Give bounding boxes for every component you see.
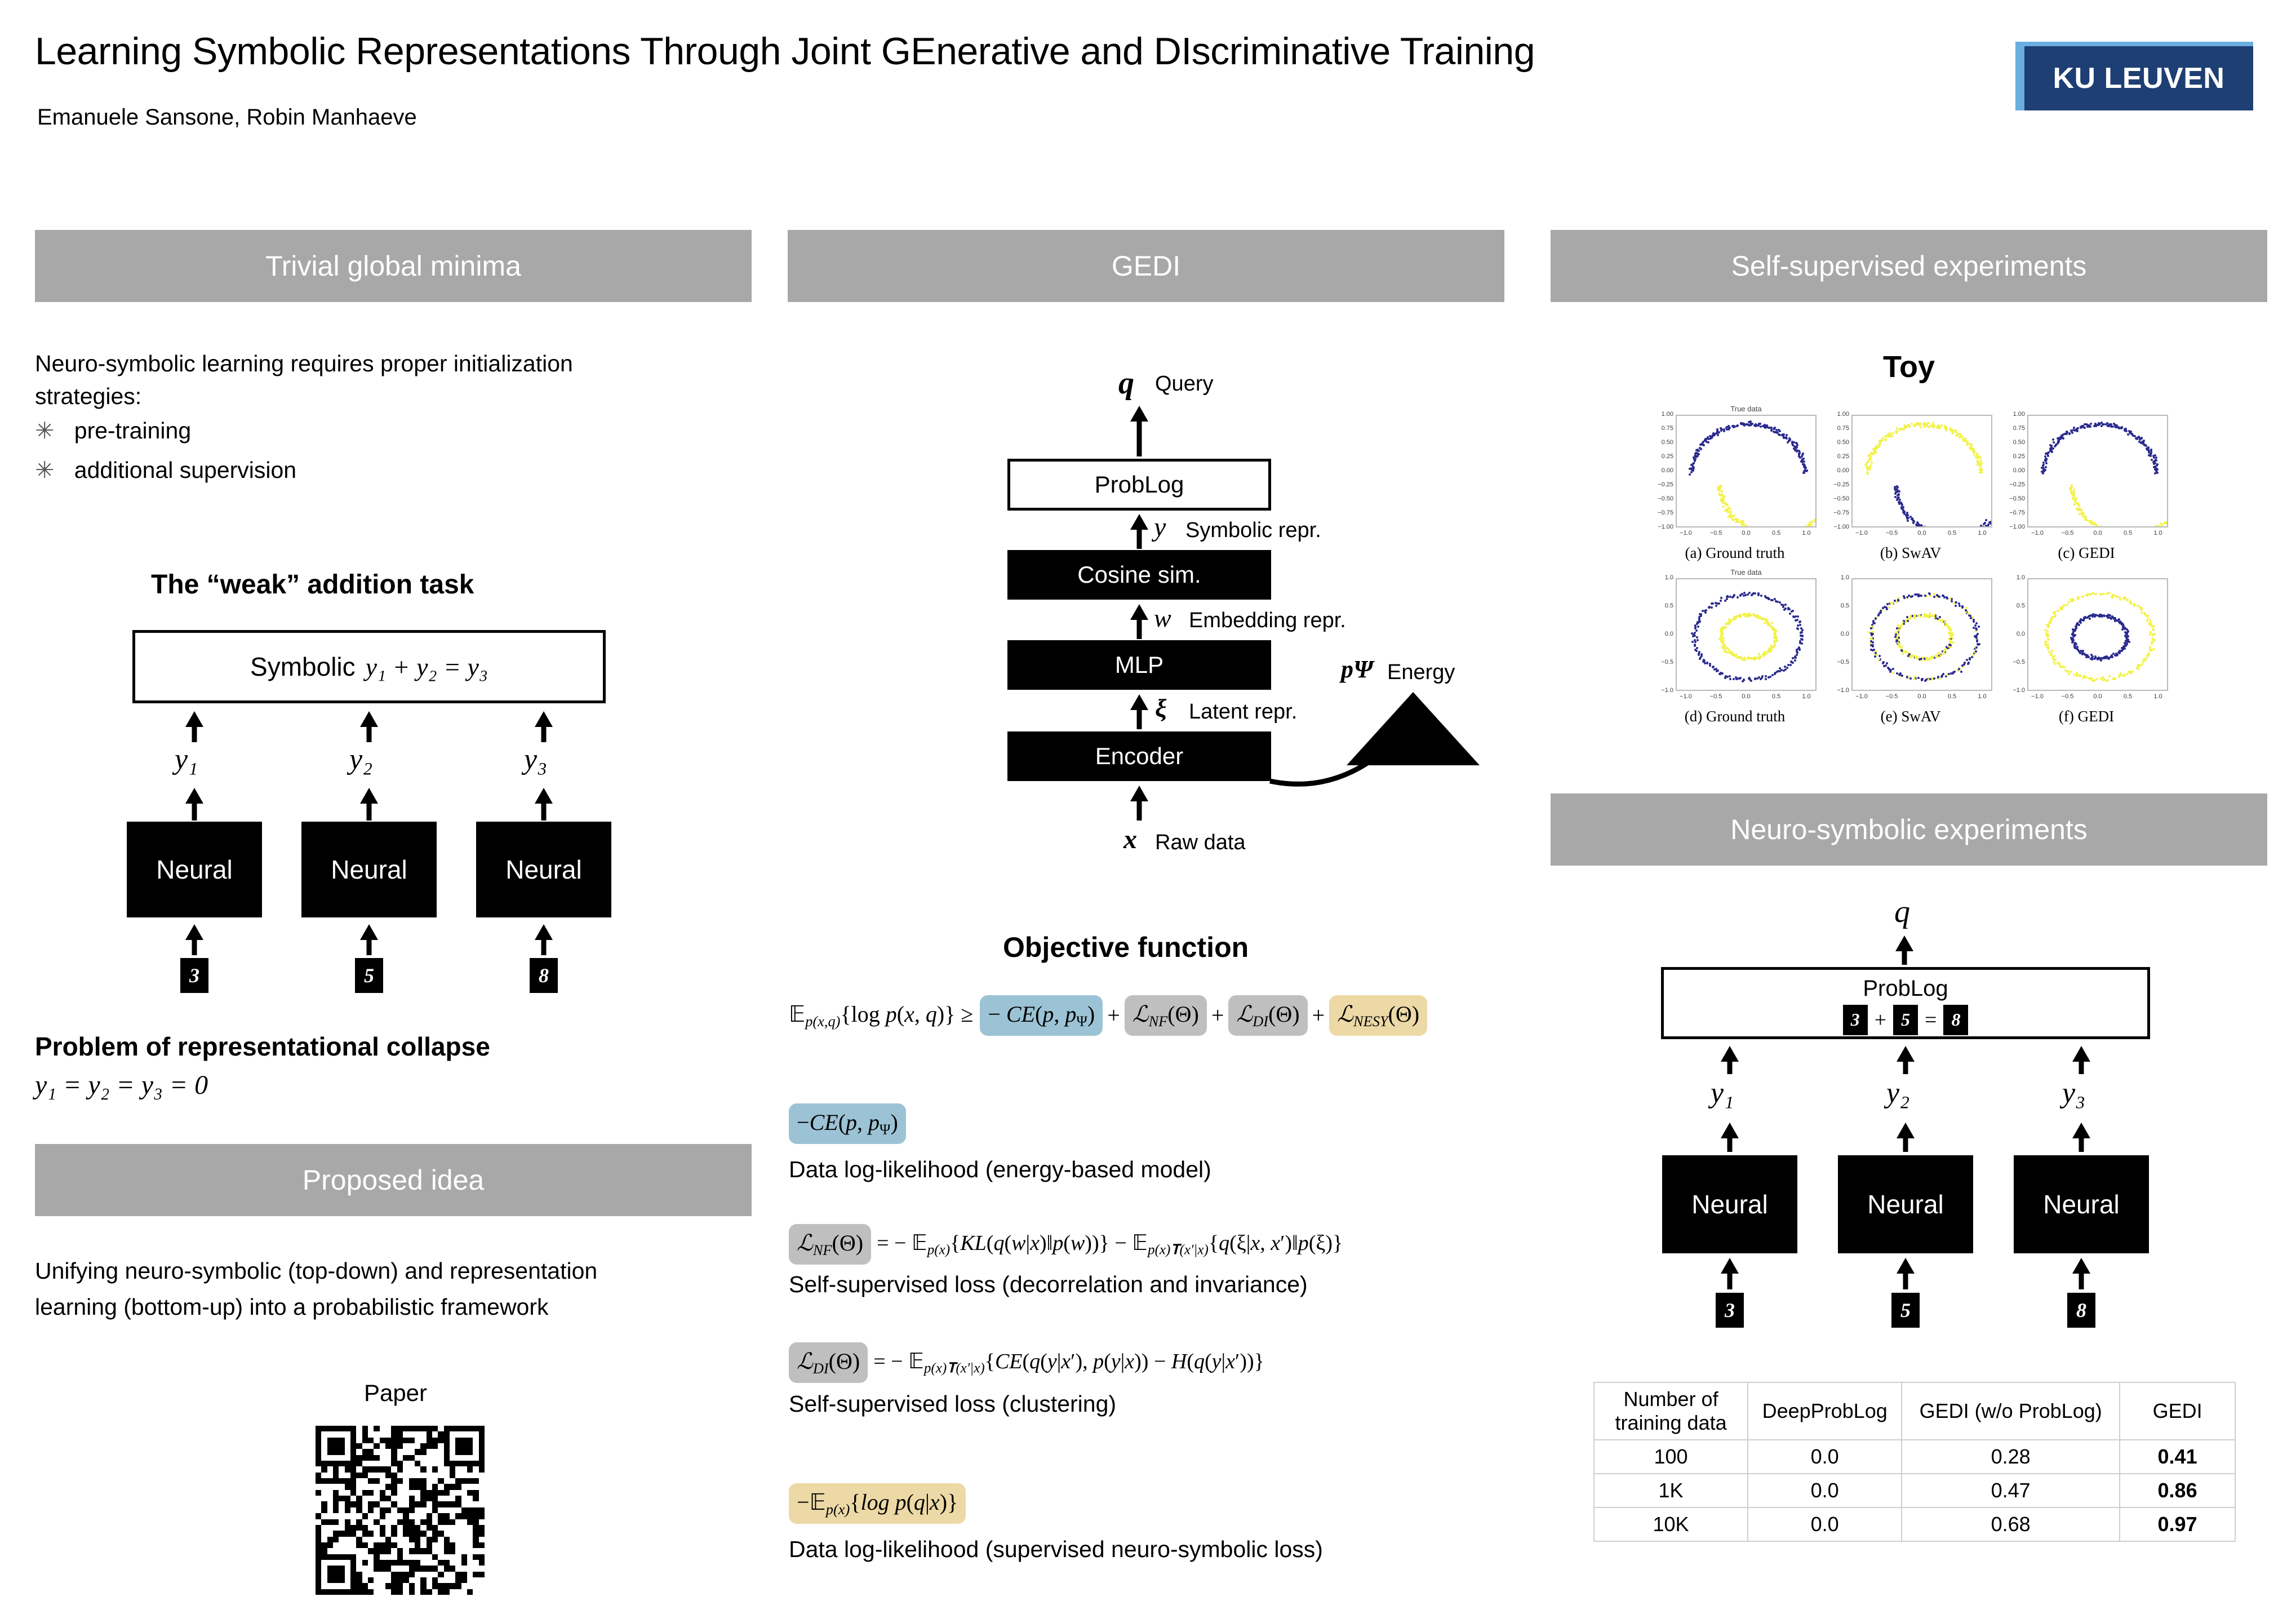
- y-tick-label: −1.0: [1829, 687, 1849, 694]
- objective-term-ce: − CE(p, pΨ): [980, 995, 1103, 1036]
- y-tick-label: 0.25: [1653, 453, 1673, 460]
- mnist-digit-3: 3: [180, 958, 208, 993]
- asterisk-icon: ✳: [35, 418, 54, 444]
- mnist-digit-3: 3: [1716, 1293, 1744, 1328]
- encoder-block: Encoder: [1007, 731, 1271, 781]
- bullet-label-0: pre-training: [74, 418, 191, 444]
- table-cell-gedi: 0.86: [2120, 1474, 2235, 1507]
- y-tick-label: 1.00: [1653, 411, 1673, 418]
- toy-plot-2: 1.000.750.500.250.00−0.25−0.50−0.75−1.00…: [2005, 406, 2168, 564]
- problog-label: ProbLog: [1095, 471, 1184, 498]
- cosine-sim-label: Cosine sim.: [1077, 561, 1201, 588]
- y-tick-label: −0.50: [2005, 495, 2025, 502]
- logo-text: KU LEUVEN: [2053, 61, 2225, 95]
- objective-term-di: ℒDI(Θ): [1228, 995, 1307, 1036]
- neural-block-2: Neural: [301, 822, 437, 917]
- y3-label: y₃: [524, 743, 547, 776]
- x-tick-label: −0.5: [2058, 530, 2078, 536]
- loss-equation-di: = − 𝔼p(x)𝐓(x′|x){CE(q(y|x′), p(y|x)) − H…: [873, 1349, 1264, 1377]
- asterisk-icon: ✳: [35, 457, 54, 483]
- objective-equation: 𝔼p(x,q){log p(x, q)} ≥ − CE(p, pΨ) + ℒNF…: [789, 995, 1427, 1036]
- table-cell-deepproblog: 0.0: [1748, 1440, 1902, 1474]
- plot-caption: (b) SwAV: [1829, 544, 1992, 562]
- table-cell-ntrain: 10K: [1594, 1507, 1748, 1541]
- table-cell-gedi: 0.41: [2120, 1440, 2235, 1474]
- mlp-block: MLP: [1007, 640, 1271, 690]
- mnist-digit-5: 5: [1893, 1005, 1918, 1035]
- y-tick-label: −1.00: [2005, 524, 2025, 530]
- y-tick-label: 0.00: [1653, 467, 1673, 474]
- y-tick-label: −0.25: [1653, 481, 1673, 488]
- mnist-digit-5: 5: [1891, 1293, 1920, 1328]
- y-tick-label: −0.50: [1653, 495, 1673, 502]
- objective-term-nesy: ℒNESY(Θ): [1329, 995, 1427, 1036]
- y-tick-label: −0.25: [1829, 481, 1849, 488]
- x-tick-label: −1.0: [2027, 530, 2048, 536]
- y-tick-label: −0.5: [2005, 659, 2025, 666]
- y-tick-label: −0.75: [2005, 509, 2025, 516]
- loss-block-ce: −CE(p, pΨ): [789, 1103, 906, 1144]
- xi-symbol: ξ: [1155, 693, 1167, 723]
- symbolic-label: Symbolic: [250, 651, 356, 682]
- loss-badge-nf: ℒNF(Θ): [789, 1224, 871, 1265]
- table-cell-ntrain: 100: [1594, 1440, 1748, 1474]
- bullet-label-1: additional supervision: [74, 457, 296, 483]
- x-tick-label: −1.0: [2027, 693, 2048, 700]
- symbolic-equation: y₁ + y₂ = y₃: [366, 652, 488, 682]
- loss-equation-nf: = − 𝔼p(x){KL(q(w|x)‖p(w))} − 𝔼p(x)𝐓(x′|x…: [877, 1230, 1343, 1259]
- plot-caption: (f) GEDI: [2005, 708, 2168, 725]
- section-header-neurosym: Neuro-symbolic experiments: [1551, 793, 2267, 866]
- table-header-ntrain-line2: training data: [1615, 1411, 1726, 1434]
- page-title: Learning Symbolic Representations Throug…: [35, 29, 1535, 73]
- y-tick-label: −0.25: [2005, 481, 2025, 488]
- embedding-repr-label: Embedding repr.: [1189, 609, 1346, 633]
- neural-block-1: Neural: [127, 822, 262, 917]
- x-tick-label: −0.5: [2058, 693, 2078, 700]
- section-header-gedi-label: GEDI: [1112, 250, 1180, 282]
- mnist-digit-3: 3: [1843, 1005, 1868, 1035]
- proposed-line-2: learning (bottom-up) into a probabilisti…: [35, 1291, 549, 1323]
- symbolic-repr-label: Symbolic repr.: [1185, 518, 1321, 543]
- loss-block-di: ℒDI(Θ) = − 𝔼p(x)𝐓(x′|x){CE(q(y|x′), p(y|…: [789, 1342, 1264, 1383]
- loss-badge-nesy: −𝔼p(x){log p(q|x)}: [789, 1483, 966, 1524]
- section-header-gedi: GEDI: [788, 230, 1504, 302]
- loss-caption-nf: Self-supervised loss (decorrelation and …: [789, 1268, 1308, 1301]
- collapse-title: Problem of representational collapse: [35, 1031, 490, 1062]
- toy-plot-0: True data1.000.750.500.250.00−0.25−0.50−…: [1653, 406, 1817, 564]
- y-tick-label: 1.0: [2005, 574, 2025, 581]
- results-table: Number of training data DeepProbLog GEDI…: [1593, 1382, 2236, 1542]
- loss-badge-ce: −CE(p, pΨ): [789, 1103, 906, 1144]
- plot-caption: (d) Ground truth: [1653, 708, 1817, 725]
- x-tick-label: 1.0: [1972, 530, 1992, 536]
- y-tick-label: 1.0: [1829, 574, 1849, 581]
- ku-leuven-logo: KU LEUVEN: [2015, 42, 2253, 110]
- objective-function-title: Objective function: [1003, 931, 1249, 964]
- plus-sign-1: +: [1107, 1002, 1120, 1028]
- authors: Emanuele Sansone, Robin Manhaeve: [37, 105, 417, 130]
- toy-plot-5: 1.00.50.0−0.5−1.0−1.0−0.50.00.51.0(f) GE…: [2005, 569, 2168, 727]
- y-tick-label: 0.0: [1653, 631, 1673, 637]
- poster-root: Learning Symbolic Representations Throug…: [0, 0, 2296, 1623]
- encoder-label: Encoder: [1095, 743, 1183, 770]
- table-header-deepproblog: DeepProbLog: [1748, 1382, 1902, 1440]
- plot-axes: [1851, 415, 1992, 527]
- encoder-to-energy-arrow-icon: [1268, 733, 1414, 795]
- nesy-query-symbol: q: [1894, 894, 1910, 930]
- problog-block: ProbLog: [1007, 459, 1271, 511]
- bullet-item-1: ✳ additional supervision: [35, 456, 296, 484]
- x-tick-label: 0.0: [2088, 530, 2108, 536]
- weak-addition-task-title: The “weak” addition task: [151, 569, 474, 600]
- y-tick-label: −0.75: [1829, 509, 1849, 516]
- intro-line-1: Neuro-symbolic learning requires proper …: [35, 347, 756, 380]
- y-tick-label: −1.0: [2005, 687, 2025, 694]
- y-tick-label: 0.00: [2005, 467, 2025, 474]
- y-tick-label: 0.0: [1829, 631, 1849, 637]
- cosine-sim-block: Cosine sim.: [1007, 550, 1271, 600]
- y-tick-label: 0.5: [2005, 602, 2025, 609]
- plot-caption: (e) SwAV: [1829, 708, 1992, 725]
- loss-block-nesy: −𝔼p(x){log p(q|x)}: [789, 1483, 966, 1524]
- nesy-y1-label: y₁: [1711, 1076, 1734, 1110]
- plus-sign: +: [1875, 1008, 1886, 1032]
- plot-title: True data: [1676, 568, 1817, 577]
- energy-symbol: pΨ: [1341, 655, 1373, 684]
- table-row: 1K0.00.470.86: [1594, 1474, 2235, 1507]
- y-tick-label: 1.00: [2005, 411, 2025, 418]
- neural-block-label: Neural: [1867, 1189, 1944, 1220]
- table-cell-deepproblog: 0.0: [1748, 1474, 1902, 1507]
- y-tick-label: −0.5: [1653, 659, 1673, 666]
- plot-axes: [2027, 578, 2168, 691]
- objective-lhs: 𝔼p(x,q){log p(x, q)} ≥: [789, 1001, 973, 1030]
- y-tick-label: 1.00: [1829, 411, 1849, 418]
- paper-qr-code[interactable]: [316, 1426, 485, 1595]
- y-tick-label: 0.5: [1829, 602, 1849, 609]
- table-row: 1000.00.280.41: [1594, 1440, 2235, 1474]
- table-row: 10K0.00.680.97: [1594, 1507, 2235, 1541]
- x-tick-label: −0.5: [1882, 693, 1902, 700]
- x-tick-label: 1.0: [1972, 693, 1992, 700]
- section-header-proposed: Proposed idea: [35, 1144, 752, 1216]
- x-tick-label: 0.5: [1942, 693, 1962, 700]
- raw-data-label: Raw data: [1155, 831, 1246, 855]
- mnist-digit-8: 8: [530, 958, 558, 993]
- toy-plot-1: 1.000.750.500.250.00−0.25−0.50−0.75−1.00…: [1829, 406, 1992, 564]
- table-cell-deepproblog: 0.0: [1748, 1507, 1902, 1541]
- x-tick-label: 0.0: [1912, 530, 1932, 536]
- section-header-selfsup-label: Self-supervised experiments: [1731, 250, 2087, 282]
- collapse-equation: y₁ = y₂ = y₃ = 0: [35, 1070, 208, 1101]
- neural-block-label: Neural: [2043, 1189, 2120, 1220]
- neural-block-label: Neural: [505, 854, 582, 885]
- section-header-proposed-label: Proposed idea: [303, 1164, 484, 1196]
- symbolic-constraint-box: Symbolic y₁ + y₂ = y₃: [132, 630, 606, 703]
- y-tick-label: −0.75: [1653, 509, 1673, 516]
- x-tick-label: 1.0: [1796, 693, 1817, 700]
- y-tick-label: 0.75: [2005, 425, 2025, 432]
- latent-repr-label: Latent repr.: [1189, 700, 1297, 724]
- table-header-ntrain-line1: Number of: [1624, 1387, 1718, 1411]
- nesy-problog-box: ProbLog 3 + 5 = 8: [1661, 967, 2150, 1039]
- y1-label: y₁: [175, 743, 198, 776]
- nesy-y3-label: y₃: [2062, 1076, 2085, 1110]
- x-tick-label: 0.5: [1766, 530, 1787, 536]
- loss-caption-di: Self-supervised loss (clustering): [789, 1387, 1116, 1420]
- x-tick-label: 1.0: [1796, 530, 1817, 536]
- equals-sign: =: [1925, 1008, 1937, 1032]
- plot-caption: (c) GEDI: [2005, 544, 2168, 562]
- plot-title: True data: [1676, 405, 1817, 413]
- paper-label: Paper: [311, 1380, 480, 1407]
- plot-axes: [2027, 415, 2168, 527]
- y2-label: y₂: [349, 743, 372, 776]
- nesy-neural-block-1: Neural: [1662, 1155, 1797, 1253]
- mnist-digit-8: 8: [1943, 1005, 1968, 1035]
- x-tick-label: −1.0: [1676, 693, 1696, 700]
- mlp-label: MLP: [1115, 651, 1163, 679]
- nesy-problog-label: ProbLog: [1863, 976, 1948, 1001]
- plus-sign-3: +: [1312, 1002, 1325, 1028]
- x-tick-label: −0.5: [1882, 530, 1902, 536]
- neural-block-label: Neural: [331, 854, 407, 885]
- nesy-problog-equation: 3 + 5 = 8: [1843, 1005, 1969, 1035]
- y-tick-label: 0.75: [1829, 425, 1849, 432]
- y-tick-label: 0.0: [2005, 631, 2025, 637]
- plot-axes: [1851, 578, 1992, 691]
- objective-term-nf: ℒNF(Θ): [1125, 995, 1207, 1036]
- x-tick-label: 0.0: [2088, 693, 2108, 700]
- x-symbol: x: [1123, 824, 1137, 855]
- loss-badge-di: ℒDI(Θ): [789, 1342, 868, 1383]
- y-tick-label: 0.00: [1829, 467, 1849, 474]
- x-tick-label: 0.0: [1736, 530, 1756, 536]
- nesy-neural-block-3: Neural: [2014, 1155, 2149, 1253]
- loss-block-nf: ℒNF(Θ) = − 𝔼p(x){KL(q(w|x)‖p(w))} − 𝔼p(x…: [789, 1224, 1343, 1265]
- energy-label: Energy: [1387, 660, 1455, 685]
- table-cell-gedi-wo: 0.28: [1902, 1440, 2120, 1474]
- y-tick-label: 1.0: [1653, 574, 1673, 581]
- loss-caption-ce: Data log-likelihood (energy-based model): [789, 1153, 1211, 1186]
- x-tick-label: −0.5: [1706, 693, 1726, 700]
- nesy-neural-block-2: Neural: [1838, 1155, 1973, 1253]
- toy-title: Toy: [1551, 349, 2267, 384]
- mnist-digit-8: 8: [2067, 1293, 2095, 1328]
- table-cell-gedi-wo: 0.68: [1902, 1507, 2120, 1541]
- x-tick-label: 1.0: [2148, 530, 2168, 536]
- intro-line-2: strategies:: [35, 380, 141, 413]
- loss-caption-nesy: Data log-likelihood (supervised neuro-sy…: [789, 1533, 1323, 1566]
- y-tick-label: −1.00: [1653, 524, 1673, 530]
- bullet-item-0: ✳ pre-training: [35, 417, 191, 444]
- neural-block-label: Neural: [156, 854, 233, 885]
- x-tick-label: −1.0: [1851, 530, 1872, 536]
- y-tick-label: −1.00: [1829, 524, 1849, 530]
- y-tick-label: 0.25: [2005, 453, 2025, 460]
- query-symbol: q: [1118, 365, 1134, 401]
- x-tick-label: −1.0: [1851, 693, 1872, 700]
- neural-block-3: Neural: [476, 822, 611, 917]
- table-header-gedi: GEDI: [2120, 1382, 2235, 1440]
- plot-axes: [1676, 415, 1817, 527]
- proposed-line-1: Unifying neuro-symbolic (top-down) and r…: [35, 1254, 597, 1287]
- table-header-row: Number of training data DeepProbLog GEDI…: [1594, 1382, 2235, 1440]
- toy-plot-3: True data1.00.50.0−0.5−1.0−1.0−0.50.00.5…: [1653, 569, 1817, 727]
- y-tick-label: 0.75: [1653, 425, 1673, 432]
- section-header-neurosym-label: Neuro-symbolic experiments: [1730, 813, 2088, 846]
- x-tick-label: 1.0: [2148, 693, 2168, 700]
- y-tick-label: −0.5: [1829, 659, 1849, 666]
- y-tick-label: 0.5: [1653, 602, 1673, 609]
- x-tick-label: 0.5: [1942, 530, 1962, 536]
- y-tick-label: −0.50: [1829, 495, 1849, 502]
- x-tick-label: 0.5: [2118, 693, 2138, 700]
- y-tick-label: 0.50: [2005, 439, 2025, 446]
- x-tick-label: 0.0: [1736, 693, 1756, 700]
- table-cell-ntrain: 1K: [1594, 1474, 1748, 1507]
- neural-block-label: Neural: [1691, 1189, 1768, 1220]
- section-header-selfsup: Self-supervised experiments: [1551, 230, 2267, 302]
- x-tick-label: 0.5: [2118, 530, 2138, 536]
- plot-axes: [1676, 578, 1817, 691]
- y-tick-label: 0.25: [1829, 453, 1849, 460]
- y-symbol: y: [1154, 512, 1166, 543]
- x-tick-label: 0.0: [1912, 693, 1932, 700]
- query-label: Query: [1155, 372, 1213, 396]
- mnist-digit-5: 5: [355, 958, 383, 993]
- table-cell-gedi: 0.97: [2120, 1507, 2235, 1541]
- plot-caption: (a) Ground truth: [1653, 544, 1817, 562]
- x-tick-label: −1.0: [1676, 530, 1696, 536]
- y-tick-label: 0.50: [1829, 439, 1849, 446]
- x-tick-label: 0.5: [1766, 693, 1787, 700]
- section-header-trivial: Trivial global minima: [35, 230, 752, 302]
- y-tick-label: 0.50: [1653, 439, 1673, 446]
- plus-sign-2: +: [1211, 1002, 1224, 1028]
- table-header-gedi-wo: GEDI (w/o ProbLog): [1902, 1382, 2120, 1440]
- toy-plot-4: 1.00.50.0−0.5−1.0−1.0−0.50.00.51.0(e) Sw…: [1829, 569, 1992, 727]
- x-tick-label: −0.5: [1706, 530, 1726, 536]
- w-symbol: w: [1154, 603, 1171, 633]
- section-header-trivial-label: Trivial global minima: [265, 250, 521, 282]
- y-tick-label: −1.0: [1653, 687, 1673, 694]
- nesy-y2-label: y₂: [1886, 1076, 1909, 1110]
- table-header-ntrain: Number of training data: [1594, 1382, 1748, 1440]
- table-cell-gedi-wo: 0.47: [1902, 1474, 2120, 1507]
